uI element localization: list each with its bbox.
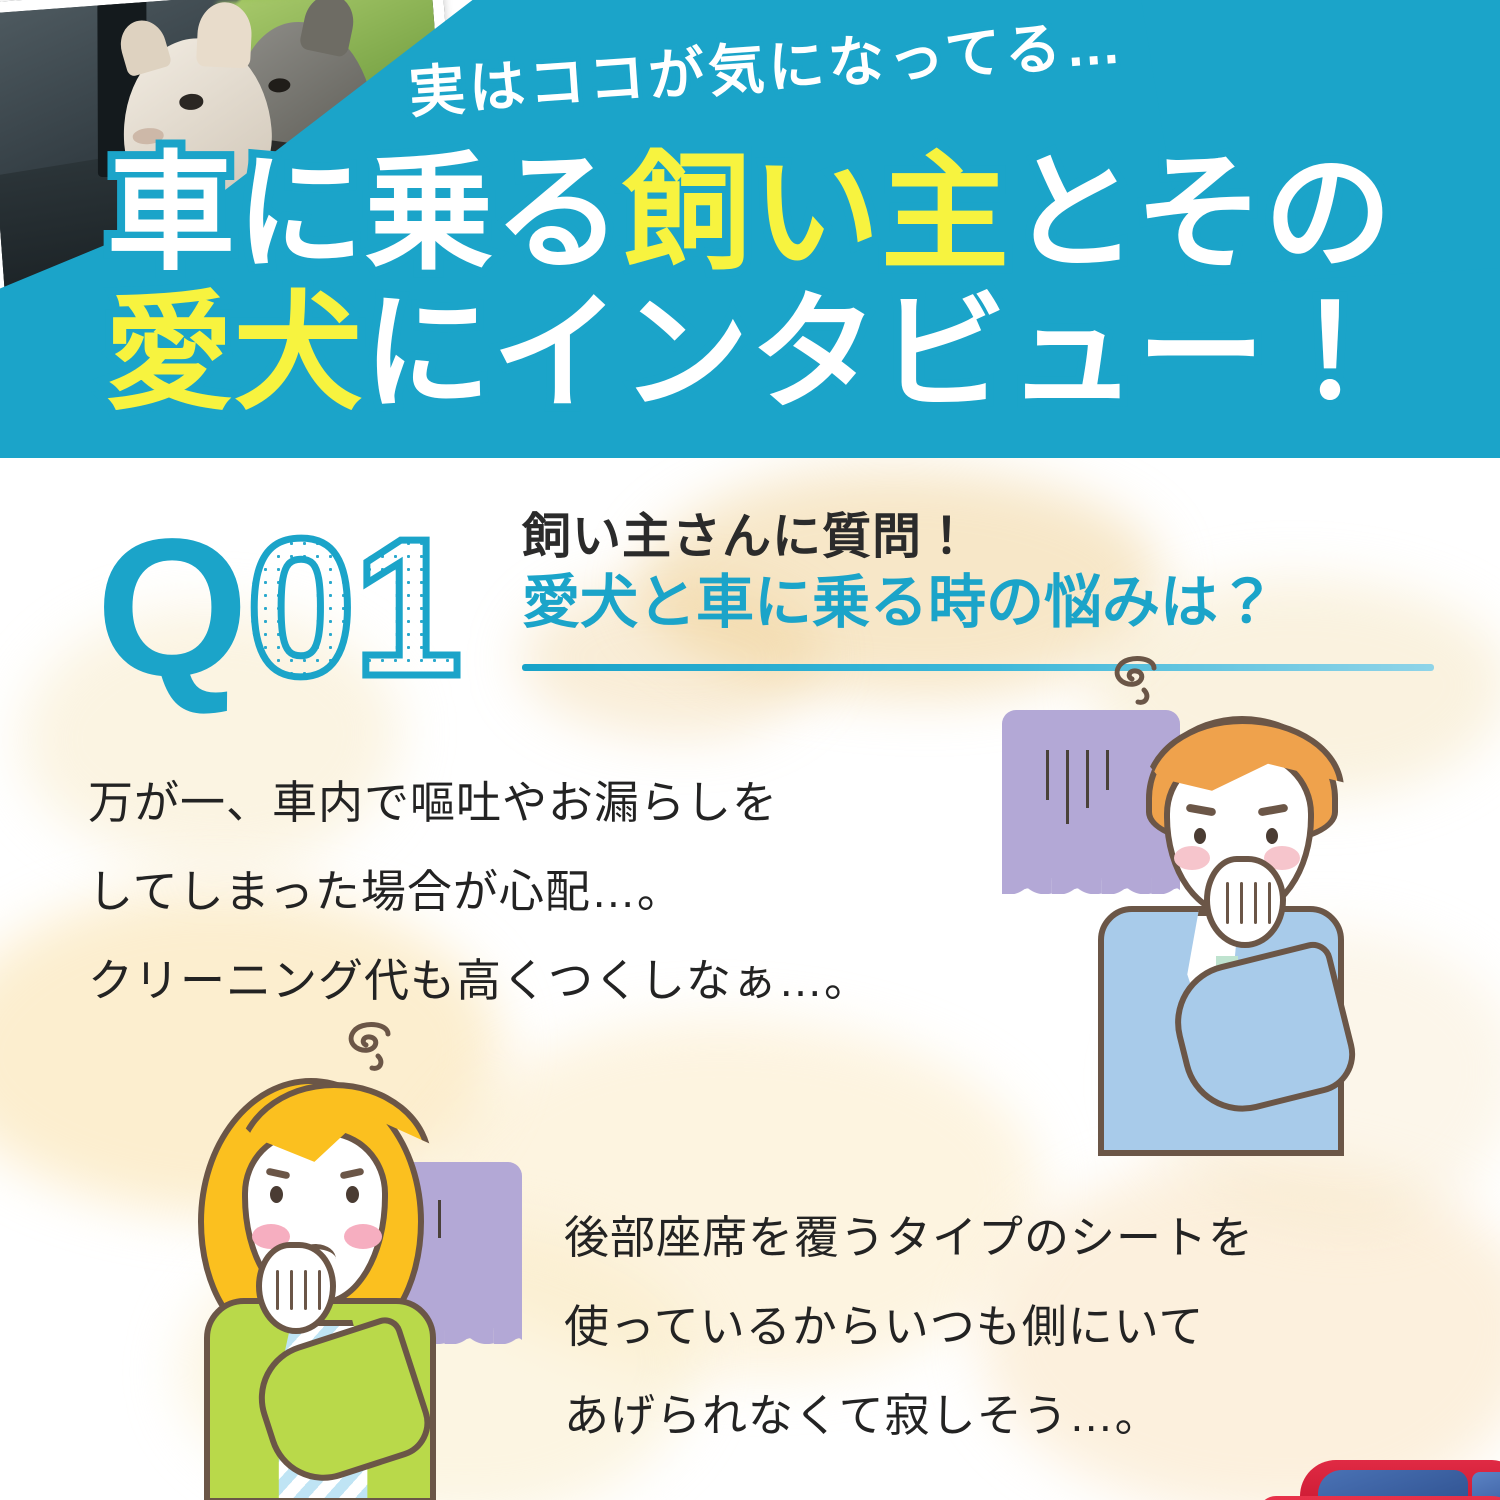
hero-headline-line1: 車に乗る飼い主とその <box>0 150 1500 278</box>
red-car-illustration <box>1258 1458 1500 1500</box>
question-number-value: 01 <box>246 498 460 717</box>
question-number-prefix: Q <box>96 498 246 717</box>
question-number: Q01 <box>96 510 460 706</box>
answer-man-text: 万が一、車内で嘔吐やお漏らしを してしまった場合が心配…。 クリーニング代も高く… <box>88 758 1028 1025</box>
headline-seg-4: 愛犬 <box>105 282 363 425</box>
poster-canvas: 実はココが気になってる… 車に乗る飼い主とその 愛犬にインタビュー！ Q01 <box>0 0 1500 1500</box>
headline-seg-3: とその <box>1010 142 1393 285</box>
man-eye <box>1266 828 1278 844</box>
answer-woman-text: 後部座席を覆うタイプのシートを 使っているからいつも側にいて あげられなくて寂し… <box>564 1193 1464 1460</box>
woman-eye <box>270 1186 283 1203</box>
question-underline <box>522 664 1434 671</box>
headline-seg-2: 飼い主 <box>623 142 1010 285</box>
man-eye <box>1194 828 1206 844</box>
man-cheek <box>1174 846 1210 870</box>
confused-swirl-icon <box>1094 652 1190 730</box>
content-area: Q01 飼い主さんに質問！ 愛犬と車に乗る時の悩みは？ 万が一、車内で嘔吐やお漏… <box>0 458 1500 1500</box>
answer-line: 万が一、車内で嘔吐やお漏らしを <box>88 758 1028 847</box>
man-hand <box>1204 856 1286 948</box>
woman-cheek <box>344 1224 382 1249</box>
woman-eye <box>346 1186 359 1203</box>
question-subtitle: 飼い主さんに質問！ <box>522 510 1442 565</box>
worried-woman-illustration <box>150 1058 480 1498</box>
answer-line: 後部座席を覆うタイプのシートを <box>564 1193 1464 1282</box>
headline-seg-1: 車に乗る <box>107 142 623 285</box>
question-title: 愛犬と車に乗る時の悩みは？ <box>522 569 1442 636</box>
woman-hand <box>256 1242 336 1334</box>
thought-lines-icon <box>1046 750 1109 828</box>
worried-man-illustration <box>1060 688 1390 1158</box>
hero-banner: 実はココが気になってる… 車に乗る飼い主とその 愛犬にインタビュー！ <box>0 0 1500 462</box>
hero-headline-line2: 愛犬にインタビュー！ <box>0 290 1500 418</box>
headline-seg-5: にインタビュー！ <box>363 282 1395 425</box>
answer-line: してしまった場合が心配…。 <box>88 847 1028 936</box>
answer-line: あげられなくて寂しそう…。 <box>564 1371 1464 1460</box>
answer-line: 使っているからいつも側にいて <box>564 1282 1464 1371</box>
hero-kicker: 実はココが気になってる… <box>406 0 1110 129</box>
answer-line: クリーニング代も高くつくしなぁ…。 <box>88 936 1028 1025</box>
